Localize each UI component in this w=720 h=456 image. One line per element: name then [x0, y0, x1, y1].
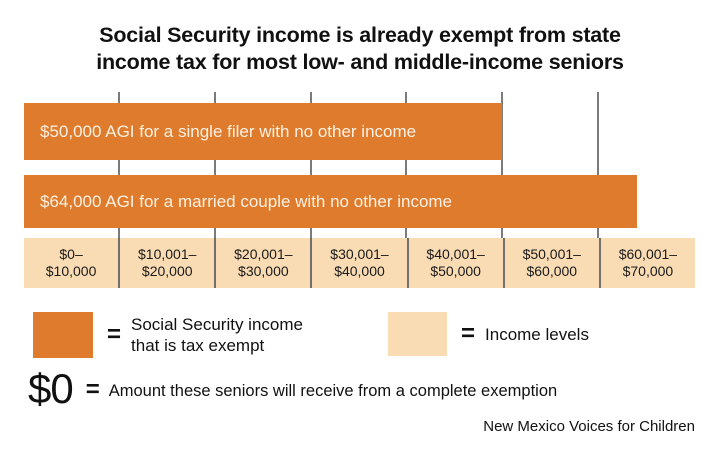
bar-single-filer-label: $50,000 AGI for a single filer with no o… — [40, 122, 416, 142]
bar-married-couple: $64,000 AGI for a married couple with no… — [24, 175, 637, 228]
chart-legend: = Social Security income that is tax exe… — [0, 306, 720, 366]
zero-amount-note: $0 = Amount these seniors will receive f… — [28, 368, 557, 410]
title-line-1: Social Security income is already exempt… — [0, 22, 720, 49]
scale-cell: $20,001– $30,000 — [216, 238, 312, 288]
page-title: Social Security income is already exempt… — [0, 22, 720, 76]
legend-label-exempt-line-1: Social Security income — [131, 314, 303, 335]
legend-equals-sign: = — [107, 323, 121, 347]
legend-swatch-orange-icon — [33, 312, 93, 358]
scale-cell-top: $20,001– — [234, 246, 292, 263]
scale-cell-top: $50,001– — [523, 246, 581, 263]
attribution-source: New Mexico Voices for Children — [483, 418, 695, 435]
scale-cell-bottom: $40,000 — [334, 263, 385, 280]
scale-cell-bottom: $20,000 — [142, 263, 193, 280]
scale-cell-bottom: $10,000 — [46, 263, 97, 280]
scale-cell: $60,001– $70,000 — [601, 238, 695, 288]
chart-plot-area: $50,000 AGI for a single filer with no o… — [24, 92, 695, 289]
scale-cell-bottom: $60,000 — [526, 263, 577, 280]
scale-cell: $10,001– $20,000 — [120, 238, 216, 288]
legend-label-income-levels-line-1: Income levels — [485, 324, 589, 345]
zero-equals-sign: = — [86, 378, 100, 402]
scale-cell-top: $0– — [59, 246, 82, 263]
scale-cell-bottom: $30,000 — [238, 263, 289, 280]
scale-cell-bottom: $70,000 — [623, 263, 674, 280]
legend-item-exempt: = Social Security income that is tax exe… — [33, 312, 303, 358]
bar-married-couple-label: $64,000 AGI for a married couple with no… — [40, 192, 452, 212]
bar-single-filer: $50,000 AGI for a single filer with no o… — [24, 103, 502, 160]
legend-item-income-levels: = Income levels — [388, 312, 589, 356]
title-line-2: income tax for most low- and middle-inco… — [0, 49, 720, 76]
zero-amount-value: $0 — [28, 368, 73, 410]
legend-swatch-tan-icon — [388, 312, 447, 356]
scale-cell-bottom: $50,000 — [430, 263, 481, 280]
legend-equals-sign: = — [461, 322, 475, 346]
scale-cell: $50,001– $60,000 — [505, 238, 601, 288]
scale-cell-top: $10,001– — [138, 246, 196, 263]
scale-cell: $40,001– $50,000 — [409, 238, 505, 288]
scale-cell-top: $60,001– — [619, 246, 677, 263]
scale-cell: $30,001– $40,000 — [312, 238, 408, 288]
legend-label-exempt: Social Security income that is tax exemp… — [131, 314, 303, 356]
infographic-root: Social Security income is already exempt… — [0, 0, 720, 456]
scale-cell-top: $30,001– — [330, 246, 388, 263]
scale-cell: $0– $10,000 — [24, 238, 120, 288]
zero-amount-description: Amount these seniors will receive from a… — [109, 381, 557, 401]
income-level-scale: $0– $10,000 $10,001– $20,000 $20,001– $3… — [24, 238, 695, 288]
scale-cell-top: $40,001– — [426, 246, 484, 263]
legend-label-income-levels: Income levels — [485, 324, 589, 345]
legend-label-exempt-line-2: that is tax exempt — [131, 335, 303, 356]
